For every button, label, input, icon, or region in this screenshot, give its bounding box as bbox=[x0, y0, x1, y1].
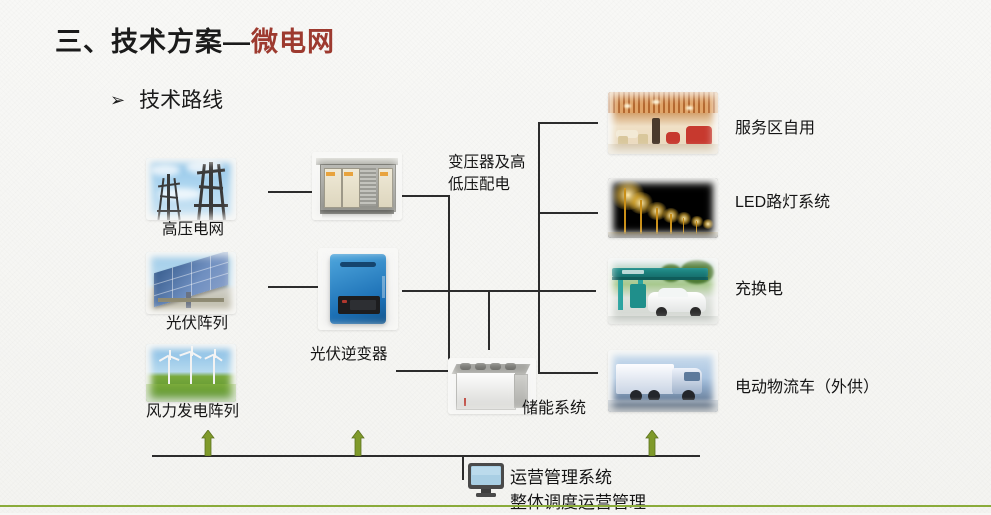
bus-right-vertical bbox=[538, 122, 540, 372]
monitor-icon bbox=[466, 462, 506, 498]
source-label-0: 高压电网 bbox=[162, 217, 224, 239]
wind-farm-photo bbox=[146, 344, 236, 402]
connector-load-led bbox=[538, 212, 598, 214]
up-arrow-icon-2 bbox=[351, 430, 365, 456]
management-label: 运营管理系统 整体调度运营管理 bbox=[510, 465, 646, 515]
transformer-photo bbox=[312, 152, 402, 220]
subtitle-row: ➢ 技术路线 bbox=[110, 84, 223, 114]
page-title-prefix: 三、技术方案— bbox=[55, 27, 251, 57]
connector-inverter-to-bus bbox=[402, 290, 422, 292]
bottom-rule bbox=[0, 505, 991, 507]
inverter-photo bbox=[318, 248, 398, 330]
connector-grid-to-transformer bbox=[268, 191, 313, 193]
load-label-0: 服务区自用 bbox=[735, 114, 815, 138]
subtitle-label: 技术路线 bbox=[139, 84, 223, 114]
page-title: 三、技术方案—微电网 bbox=[55, 20, 335, 59]
management-label-line2: 整体调度运营管理 bbox=[510, 490, 646, 515]
page-title-accent: 微电网 bbox=[251, 27, 335, 57]
connector-load-truck bbox=[538, 372, 598, 374]
transformer-label: 变压器及高 低压配电 bbox=[448, 152, 526, 196]
load-label-2: 充换电 bbox=[735, 275, 783, 299]
ev-charging-photo bbox=[608, 258, 718, 324]
connector-load-service-area bbox=[538, 122, 598, 124]
connector-load-charging bbox=[538, 290, 596, 292]
load-label-3: 电动物流车（外供） bbox=[735, 373, 879, 397]
transformer-label-line2: 低压配电 bbox=[448, 174, 526, 196]
connector-bus-to-storage bbox=[488, 290, 490, 350]
connector-management-stub bbox=[462, 455, 464, 480]
source-label-2: 风力发电阵列 bbox=[146, 399, 239, 421]
slide-canvas: 三、技术方案—微电网 ➢ 技术路线 bbox=[0, 0, 991, 513]
storage-label: 储能系统 bbox=[522, 394, 586, 418]
load-label-1: LED路灯系统 bbox=[735, 188, 830, 212]
connector-bus-bottom-left bbox=[396, 370, 450, 372]
connector-solar-to-inverter bbox=[268, 286, 320, 288]
led-streetlight-photo bbox=[608, 178, 718, 238]
transformer-label-line1: 变压器及高 bbox=[448, 152, 526, 174]
arrow-bullet-icon: ➢ bbox=[110, 91, 125, 109]
bus-management-horizontal bbox=[152, 455, 700, 457]
bus-left-vertical bbox=[448, 195, 450, 372]
solar-array-photo bbox=[146, 252, 236, 314]
connector-transformer-to-bus bbox=[396, 195, 450, 197]
service-area-photo bbox=[608, 92, 718, 154]
up-arrow-icon-1 bbox=[201, 430, 215, 456]
management-label-line1: 运营管理系统 bbox=[510, 465, 646, 490]
up-arrow-icon-3 bbox=[645, 430, 659, 456]
power-grid-photo bbox=[146, 158, 236, 220]
source-label-1: 光伏阵列 bbox=[166, 311, 228, 333]
inverter-label: 光伏逆变器 bbox=[310, 342, 388, 364]
electric-truck-photo bbox=[608, 350, 718, 412]
